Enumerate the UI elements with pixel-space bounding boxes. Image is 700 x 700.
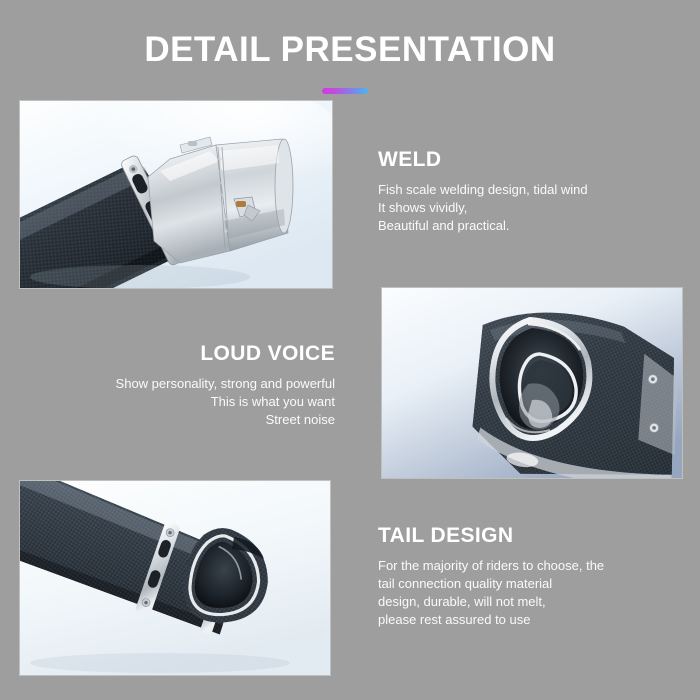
page-title: DETAIL PRESENTATION: [0, 30, 700, 70]
section-loud-voice: LOUD VOICE Show personality, strong and …: [35, 342, 335, 429]
section-tail-design: TAIL DESIGN For the majority of riders t…: [378, 524, 604, 629]
exhaust-outlet-closeup-photo: [382, 288, 682, 478]
detail-presentation-page: DETAIL PRESENTATION: [0, 0, 700, 700]
section-tail-design-line-2: tail connection quality material: [378, 575, 604, 593]
section-weld-heading: WELD: [378, 148, 588, 172]
section-tail-design-line-1: For the majority of riders to choose, th…: [378, 557, 604, 575]
section-loud-voice-heading: LOUD VOICE: [35, 342, 335, 366]
exhaust-tail-body-photo: [20, 481, 330, 675]
section-tail-design-line-3: design, durable, will not melt,: [378, 593, 604, 611]
section-weld-line-3: Beautiful and practical.: [378, 217, 588, 235]
section-weld: WELD Fish scale welding design, tidal wi…: [378, 148, 588, 235]
exhaust-weld-collar-photo: [20, 101, 332, 288]
section-loud-voice-line-3: Street noise: [35, 411, 335, 429]
section-weld-line-1: Fish scale welding design, tidal wind: [378, 181, 588, 199]
section-tail-design-line-4: please rest assured to use: [378, 611, 604, 629]
section-tail-design-heading: TAIL DESIGN: [378, 524, 604, 548]
section-weld-line-2: It shows vividly,: [378, 199, 588, 217]
section-loud-voice-line-1: Show personality, strong and powerful: [35, 375, 335, 393]
title-accent-bar: [322, 88, 368, 94]
section-loud-voice-line-2: This is what you want: [35, 393, 335, 411]
